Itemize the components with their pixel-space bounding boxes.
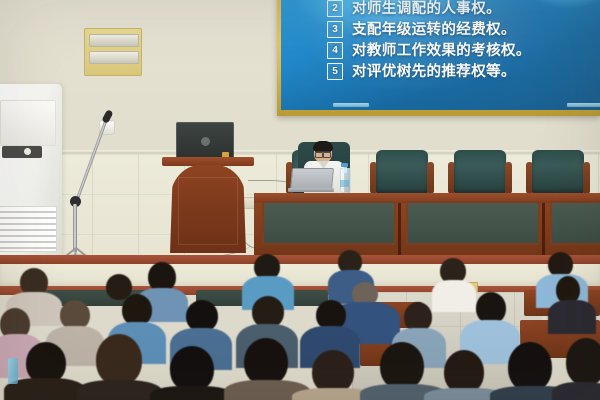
slide-line: 4 对教师工作效果的考核权。 [327, 42, 594, 59]
stage-chair [370, 148, 434, 196]
attendee-head [96, 334, 142, 386]
attendee-body [548, 300, 596, 334]
attendee-head [380, 342, 424, 390]
microphone-stand [58, 112, 120, 260]
microphone-icon [101, 109, 113, 124]
mic-pole [73, 204, 77, 252]
slide-number-badge: 2 [327, 0, 343, 17]
eyeglasses-icon [315, 151, 331, 156]
slide-number-badge: 5 [327, 63, 343, 80]
slide-line: 3 支配年级运转的经费权。 [327, 21, 594, 38]
slide-content: 2 对师生调配的人事权。 3 支配年级运转的经费权。 4 对教师工作效果的考核权… [327, 0, 594, 80]
audience-water-bottle [8, 358, 18, 384]
slide-line: 2 对师生调配的人事权。 [327, 0, 594, 17]
attendee-body [432, 280, 476, 312]
table-panel [262, 201, 396, 245]
slide-line-text: 对评优树先的推荐权等。 [352, 64, 516, 80]
electrical-panel [84, 28, 142, 76]
breaker-row [89, 34, 139, 47]
slide-line-text: 对教师工作效果的考核权。 [352, 43, 531, 59]
speaker-hair [313, 141, 333, 151]
lectern-body [170, 165, 246, 253]
laptop-computer [288, 168, 334, 192]
slide-number-badge: 4 [327, 42, 343, 59]
projection-screen-frame: 2 对师生调配的人事权。 3 支配年级运转的经费权。 4 对教师工作效果的考核权… [277, 0, 600, 116]
mic-boom-arm [74, 117, 108, 204]
lecture-hall-photo: 2 对师生调配的人事权。 3 支配年级运转的经费权。 4 对教师工作效果的考核权… [0, 0, 600, 400]
stage-chair [526, 148, 590, 196]
bottle-cap [341, 163, 348, 167]
slide-line-text: 支配年级运转的经费权。 [352, 22, 516, 38]
slide-line-text: 对师生调配的人事权。 [352, 1, 501, 17]
water-bottle [340, 163, 349, 193]
lectern-top [162, 157, 254, 166]
projection-screen-surface: 2 对师生调配的人事权。 3 支配年级运转的经费权。 4 对教师工作效果的考核权… [281, 0, 600, 110]
slide-line: 5 对评优树先的推荐权等。 [327, 63, 594, 80]
air-conditioner-unit [0, 84, 62, 264]
screen-label-tag [567, 103, 600, 107]
laptop-screen [290, 168, 334, 190]
table-panel [550, 201, 600, 245]
monitor-logo-icon [201, 137, 210, 146]
confidence-monitor [176, 122, 234, 162]
table-panel [406, 201, 540, 245]
attendee-head [508, 342, 552, 392]
air-conditioner-display [2, 146, 42, 158]
bottle-neck [342, 166, 347, 173]
attendee-body [552, 382, 600, 400]
breaker-row [89, 51, 139, 64]
stage-chair [448, 148, 512, 196]
air-conditioner-panel [0, 100, 56, 146]
slide-number-badge: 3 [327, 21, 343, 38]
attendee-head [244, 338, 288, 386]
attendee-body [150, 386, 234, 400]
audience-seating [0, 246, 600, 400]
attendee-head [566, 338, 600, 386]
lectern [166, 157, 250, 252]
screen-label-tag [333, 103, 369, 107]
bottle-label [340, 180, 349, 187]
laptop-base [288, 188, 334, 192]
